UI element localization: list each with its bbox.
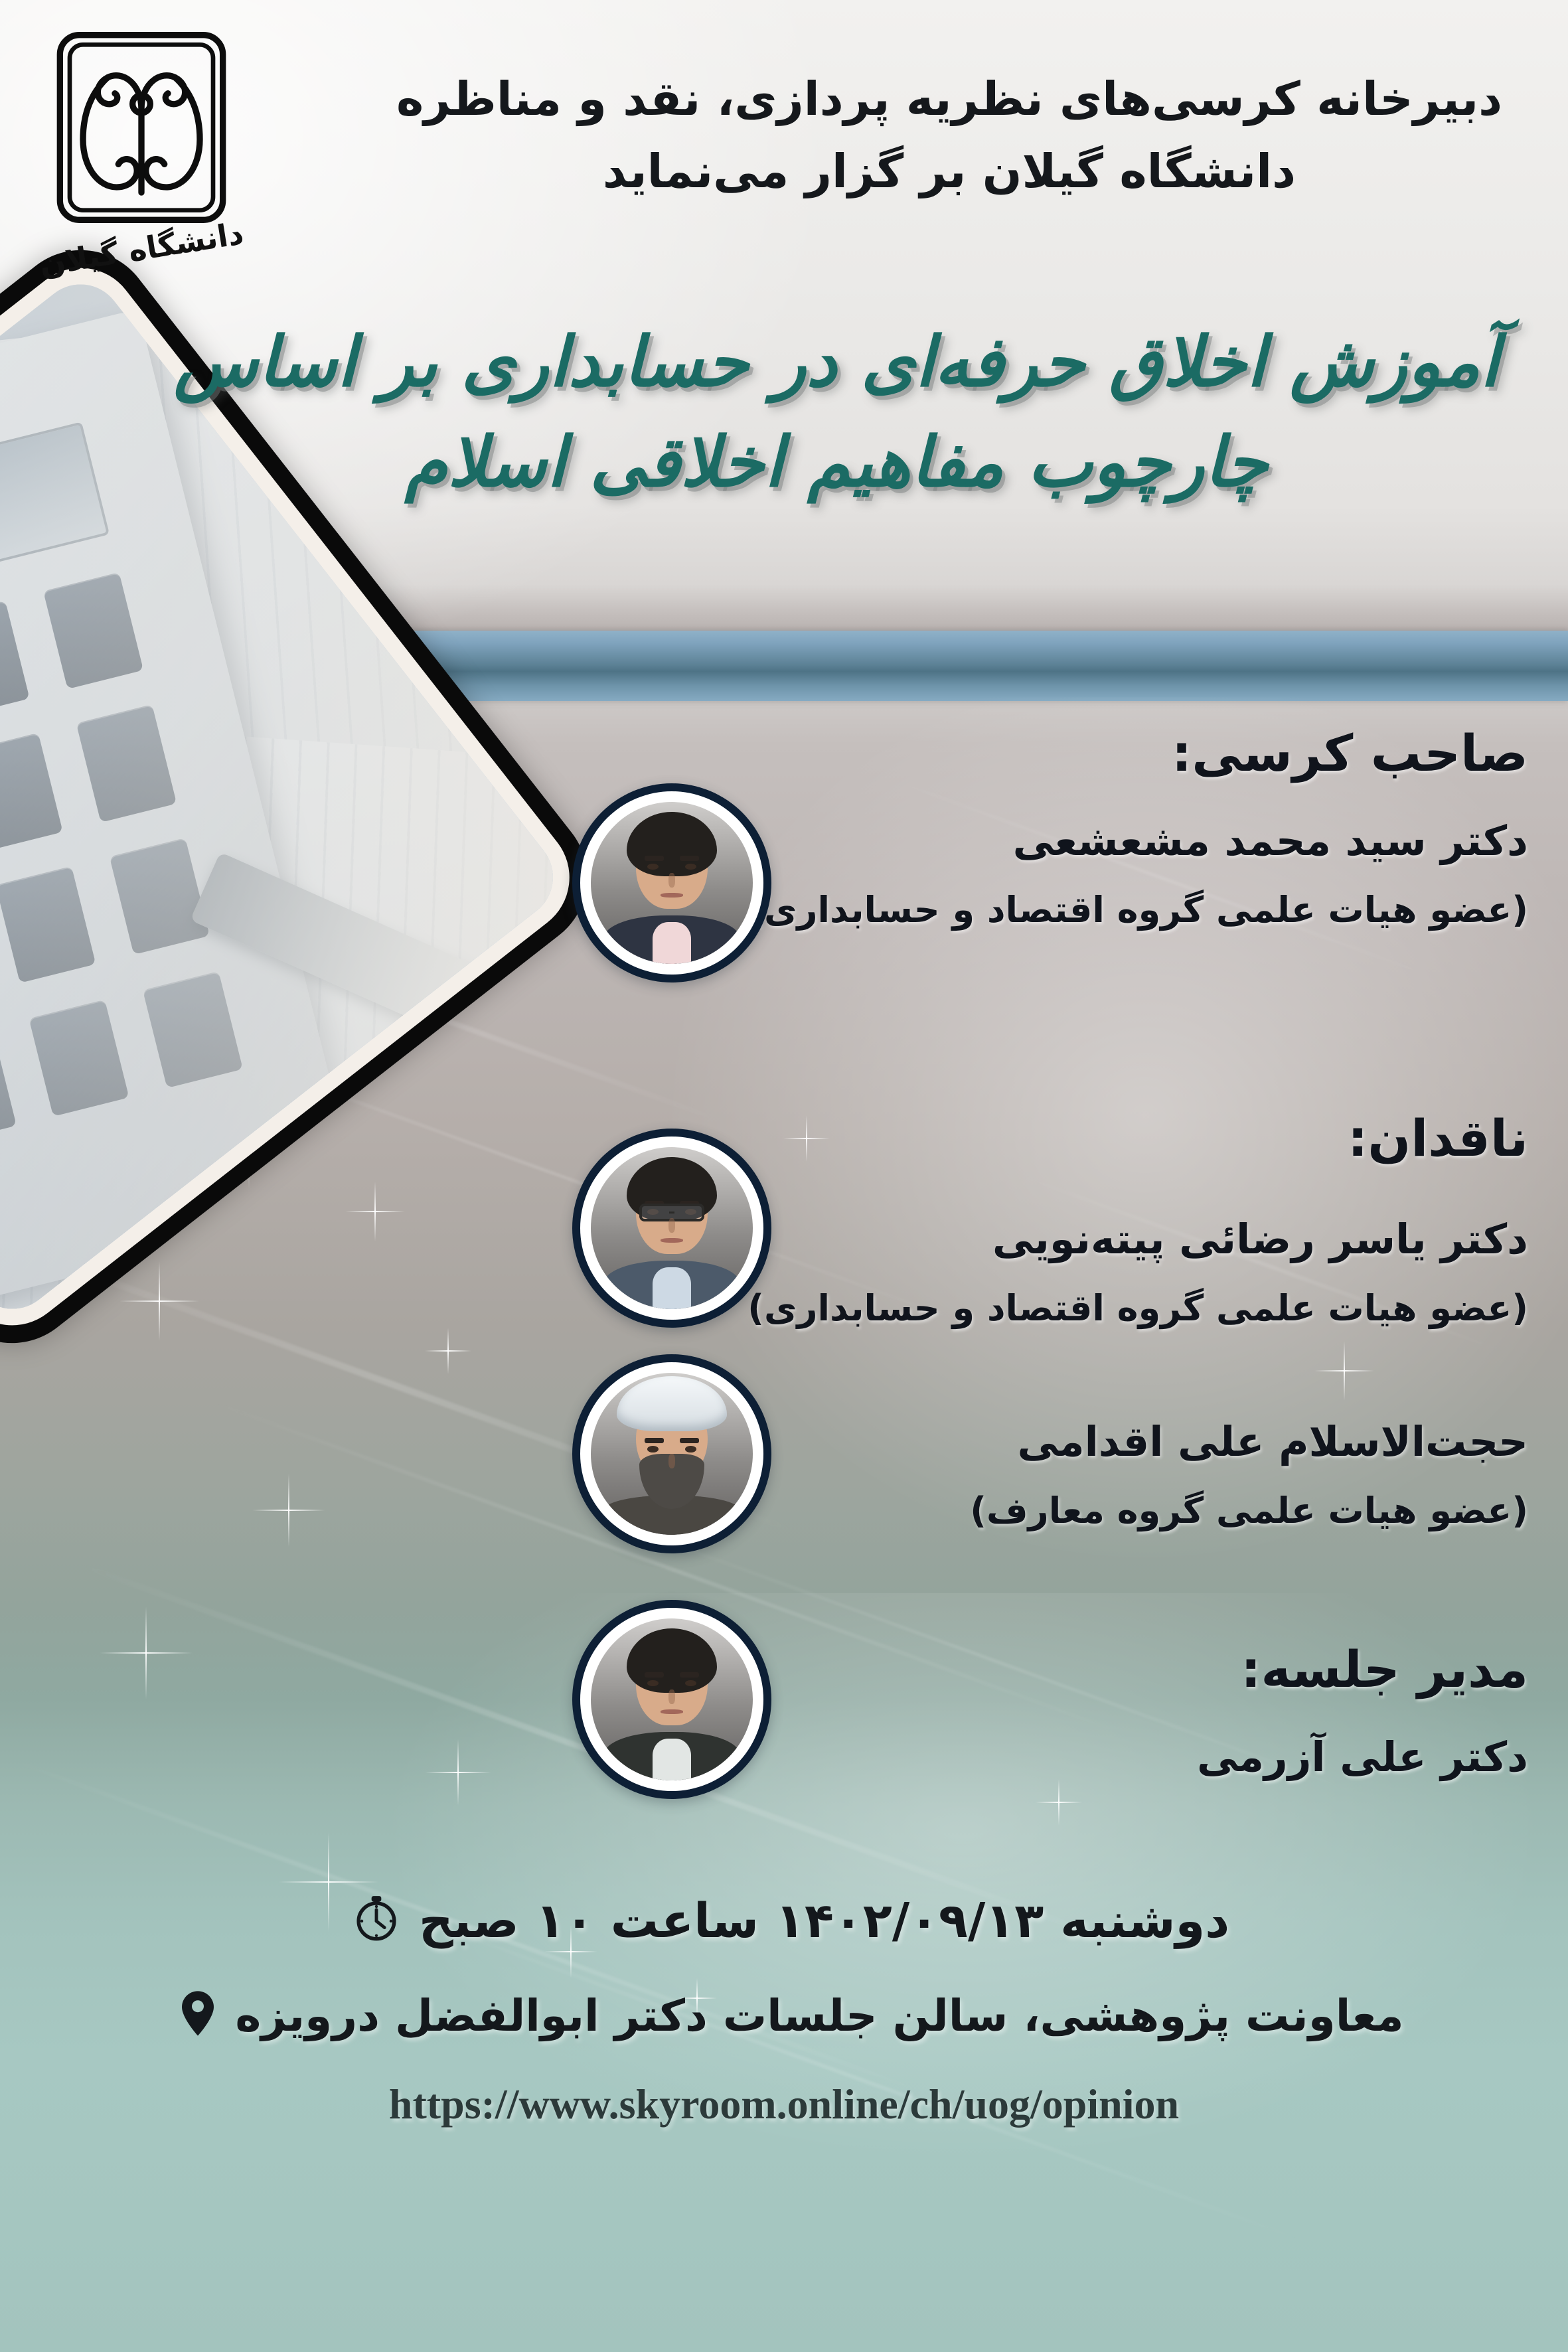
role-label-chair: صاحب کرسی:: [1172, 724, 1528, 783]
critic-1-name: دکتر یاسر رضائی پیته‌نویی: [992, 1208, 1528, 1270]
university-logo: دانشگاه گیلان: [32, 28, 251, 267]
chair-affiliation: (عضو هیات علمی گروه اقتصاد و حسابداری): [747, 883, 1528, 937]
map-pin-icon: [176, 1990, 220, 2037]
participants-section: صاحب کرسی: دکتر سید محمد مشعشعی (عضو هیا…: [0, 717, 1568, 1832]
role-label-moderator: مدیر جلسه:: [1241, 1640, 1528, 1699]
role-label-critics: ناقدان:: [1348, 1109, 1528, 1168]
avatar-moderator: [572, 1600, 771, 1799]
event-datetime-row: دوشنبه ۱۴۰۲/۰۹/۱۳ ساعت ۱۰ صبح: [0, 1892, 1568, 1948]
avatar-critic-1: [572, 1129, 771, 1328]
university-of-gilan-logo: [52, 28, 231, 227]
event-datetime: دوشنبه ۱۴۰۲/۰۹/۱۳ ساعت ۱۰ صبح: [419, 1893, 1229, 1948]
organizer-line-2: دانشگاه گیلان بر گزار می‌نماید: [372, 135, 1527, 208]
event-location: معاونت پژوهشی، سالن جلسات دکتر ابوالفضل …: [235, 1990, 1403, 2041]
stopwatch-icon: [351, 1892, 402, 1944]
footer: دوشنبه ۱۴۰۲/۰۹/۱۳ ساعت ۱۰ صبح معاونت پژو…: [0, 1892, 1568, 2129]
moderator-name: دکتر علی آزرمی: [1197, 1726, 1528, 1788]
webinar-link[interactable]: https://www.skyroom.online/ch/uog/opinio…: [0, 2080, 1568, 2129]
page-title: آموزش اخلاق حرفه‌ای در حسابداری بر اساس …: [153, 312, 1520, 512]
critic-1-affiliation: (عضو هیات علمی گروه اقتصاد و حسابداری): [747, 1281, 1528, 1335]
event-poster: دانشگاه گیلان دبیرخانه کرسی‌های نظریه پر…: [0, 0, 1568, 2352]
critic-2-name: حجت‌الاسلام علی اقدامی: [1018, 1411, 1529, 1472]
chair-name: دکتر سید محمد مشعشعی: [1013, 810, 1528, 872]
critic-2-affiliation: (عضو هیات علمی گروه معارف): [970, 1484, 1528, 1537]
organizer-line-1: دبیرخانه کرسی‌های نظریه پردازی، نقد و من…: [372, 63, 1527, 135]
title-line-2: چارچوب مفاهیم اخلاقی اسلام: [153, 412, 1520, 512]
organizer-header: دبیرخانه کرسی‌های نظریه پردازی، نقد و من…: [372, 63, 1527, 207]
avatar-critic-2: [572, 1354, 771, 1553]
event-location-row: معاونت پژوهشی، سالن جلسات دکتر ابوالفضل …: [0, 1990, 1568, 2041]
avatar-chair: [572, 783, 771, 982]
title-line-1: آموزش اخلاق حرفه‌ای در حسابداری بر اساس: [174, 321, 1499, 402]
